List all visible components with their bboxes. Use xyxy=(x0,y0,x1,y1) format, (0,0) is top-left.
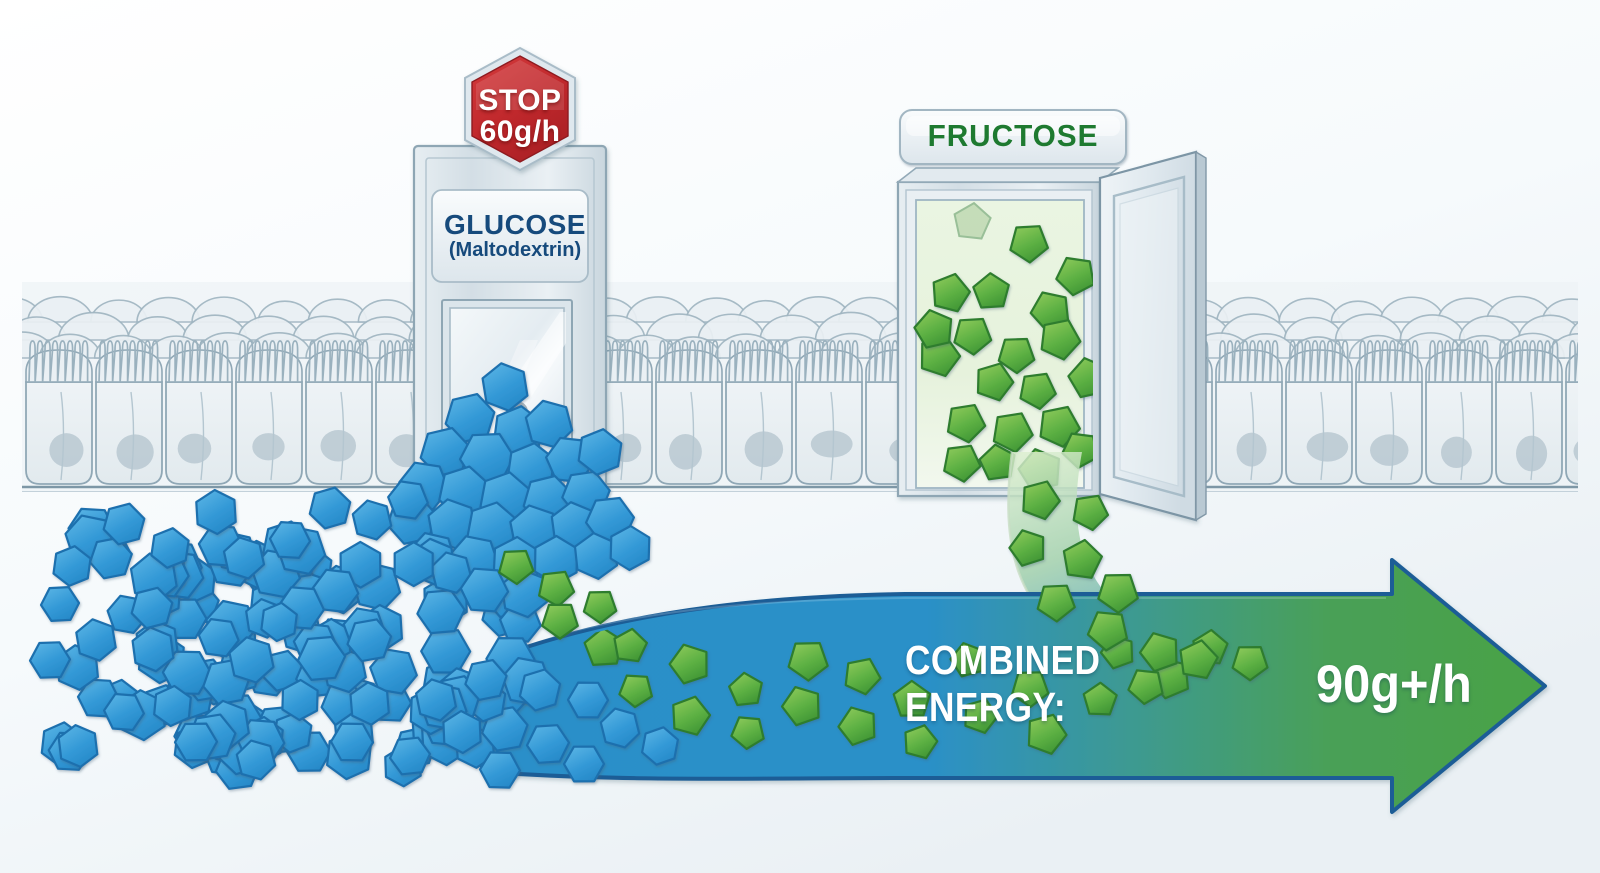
combined-energy-value: 90g+/h xyxy=(1316,654,1472,715)
open-door-panel[interactable] xyxy=(1100,152,1206,520)
stop-label: STOP xyxy=(478,86,561,117)
glucose-label: GLUCOSE (Maltodextrin) xyxy=(430,200,600,272)
fructose-label: FRUCTOSE xyxy=(909,112,1116,160)
intestinal-epithelium xyxy=(0,282,1600,492)
glucose-label-sub: (Maltodextrin) xyxy=(449,239,581,262)
infographic-illustration xyxy=(0,0,1600,873)
glucose-label-main: GLUCOSE xyxy=(444,210,586,239)
stop-limit: 60g/h xyxy=(480,117,561,148)
combined-energy-text: COMBINED ENERGY: 90g+/h xyxy=(905,650,1485,718)
combined-energy-prefix: COMBINED ENERGY: xyxy=(905,637,1256,731)
stop-sign-text: STOP 60g/h xyxy=(455,62,585,172)
infographic-canvas: STOP 60g/h GLUCOSE (Maltodextrin) FRUCTO… xyxy=(0,0,1600,873)
